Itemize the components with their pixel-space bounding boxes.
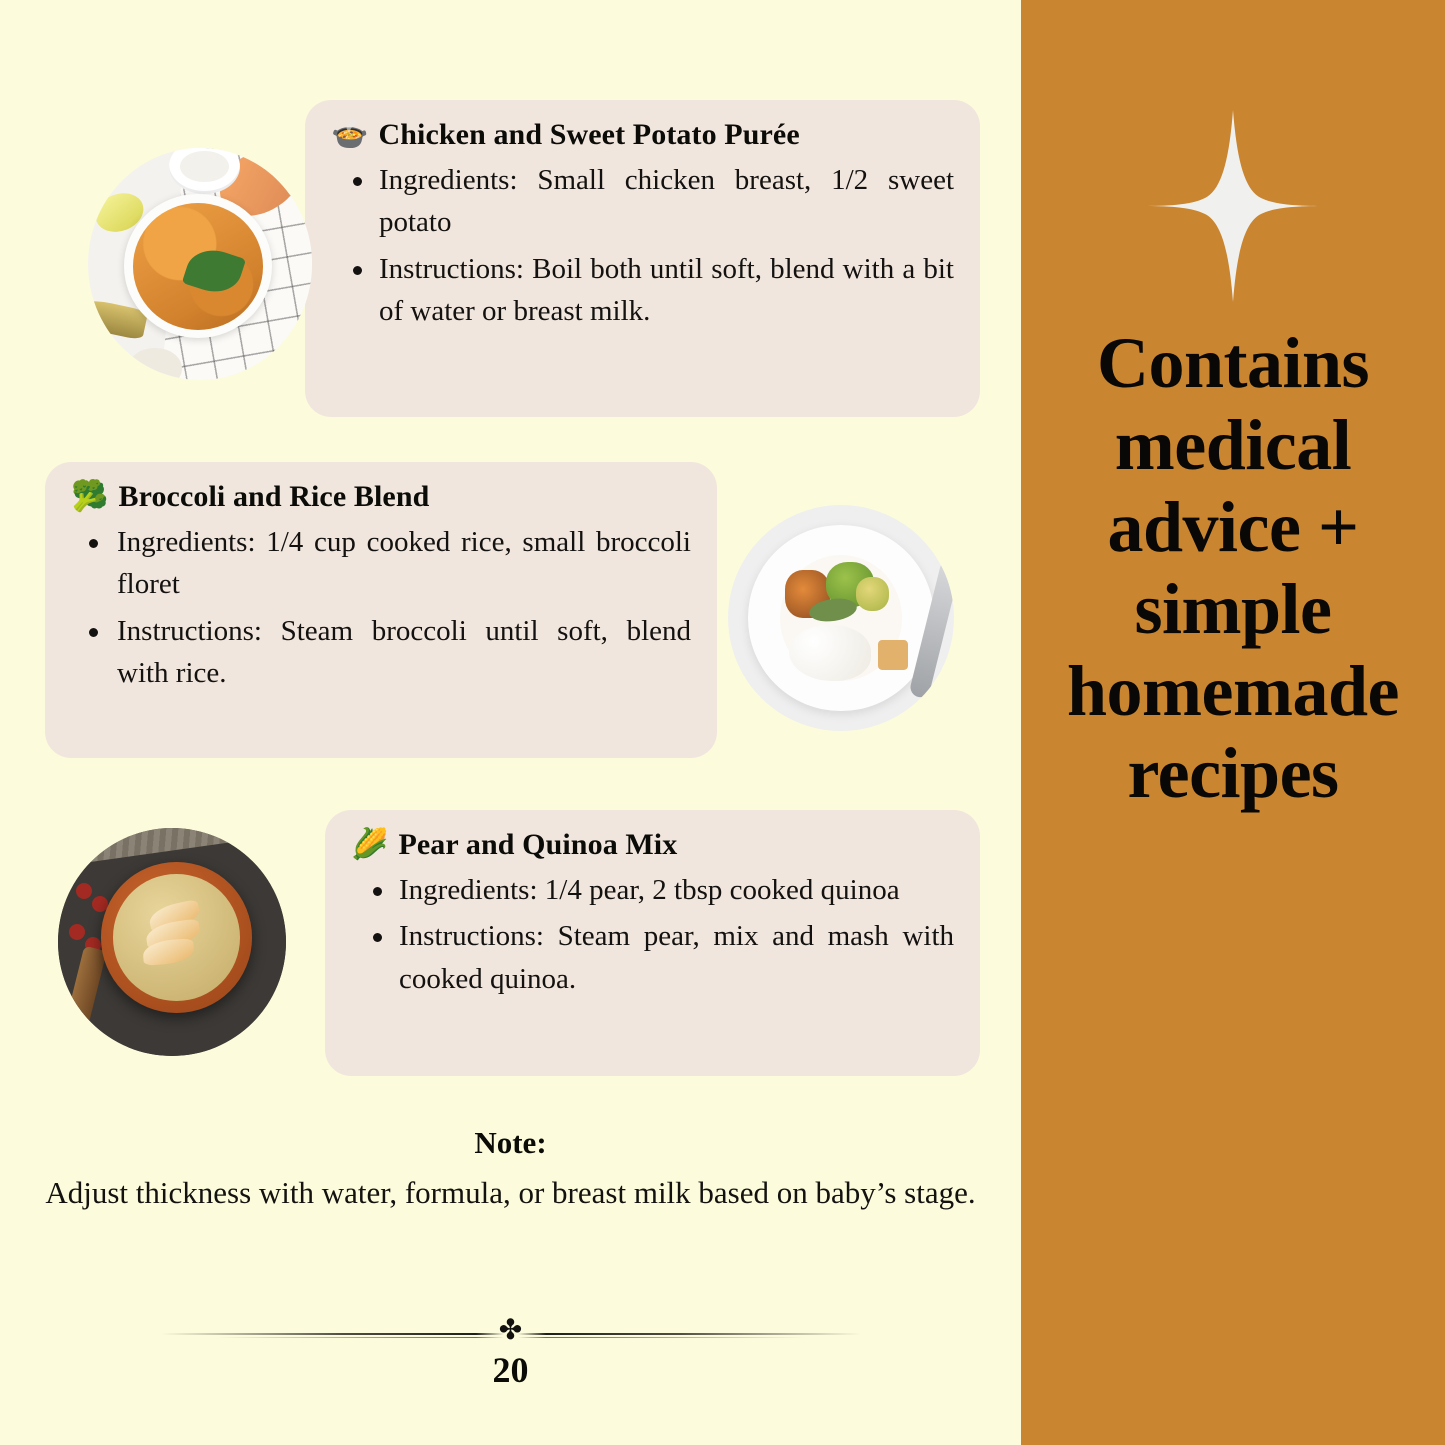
recipe-card-chicken-sweet-potato: 🍲 Chicken and Sweet Potato Purée Ingredi… (305, 100, 980, 417)
recipe-photo-rice-vegetables (728, 505, 954, 731)
page-footer: ✤ 20 (0, 1325, 1021, 1391)
page-number: 20 (0, 1349, 1021, 1391)
sidebar-text: Contains medical advice + simple homemad… (1021, 322, 1445, 814)
page-body: 🍲 Chicken and Sweet Potato Purée Ingredi… (0, 0, 1021, 1445)
recipe-bullet-list: Ingredients: Small chicken breast, 1/2 s… (331, 159, 954, 332)
fleuron-ornament-icon: ✤ (499, 1317, 522, 1345)
note-label: Note: (0, 1124, 1021, 1161)
corn-icon: 🌽 (351, 830, 388, 860)
recipe-title-row: 🥦 Broccoli and Rice Blend (71, 480, 691, 513)
recipe-card-pear-quinoa: 🌽 Pear and Quinoa Mix Ingredients: 1/4 p… (325, 810, 980, 1076)
recipe-photo-pear-quinoa (58, 828, 286, 1056)
note-block: Note: Adjust thickness with water, formu… (0, 1124, 1021, 1218)
recipe-card-broccoli-rice: 🥦 Broccoli and Rice Blend Ingredients: 1… (45, 462, 717, 758)
recipe-ingredients: Ingredients: 1/4 cup cooked rice, small … (71, 521, 691, 606)
recipe-title: Broccoli and Rice Blend (118, 480, 429, 513)
recipe-instructions: Instructions: Boil both until soft, blen… (331, 248, 954, 333)
recipe-photo-sweet-potato-puree (88, 148, 312, 380)
sidebar-callout: Contains medical advice + simple homemad… (1021, 0, 1445, 1445)
recipe-ingredients: Ingredients: 1/4 pear, 2 tbsp cooked qui… (351, 869, 954, 911)
broccoli-icon: 🥦 (71, 482, 108, 512)
four-point-sparkle-icon (1133, 106, 1333, 306)
recipe-title: Chicken and Sweet Potato Purée (378, 118, 799, 151)
recipe-bullet-list: Ingredients: 1/4 pear, 2 tbsp cooked qui… (351, 869, 954, 1000)
recipe-instructions: Instructions: Steam pear, mix and mash w… (351, 915, 954, 1000)
recipe-bullet-list: Ingredients: 1/4 cup cooked rice, small … (71, 521, 691, 694)
ornamental-divider: ✤ (161, 1325, 861, 1343)
note-body: Adjust thickness with water, formula, or… (0, 1169, 1021, 1218)
pot-of-food-icon: 🍲 (331, 120, 368, 150)
recipe-title-row: 🍲 Chicken and Sweet Potato Purée (331, 118, 954, 151)
recipe-ingredients: Ingredients: Small chicken breast, 1/2 s… (331, 159, 954, 244)
recipe-instructions: Instructions: Steam broccoli until soft,… (71, 610, 691, 695)
recipe-title: Pear and Quinoa Mix (398, 828, 677, 861)
recipe-title-row: 🌽 Pear and Quinoa Mix (351, 828, 954, 861)
